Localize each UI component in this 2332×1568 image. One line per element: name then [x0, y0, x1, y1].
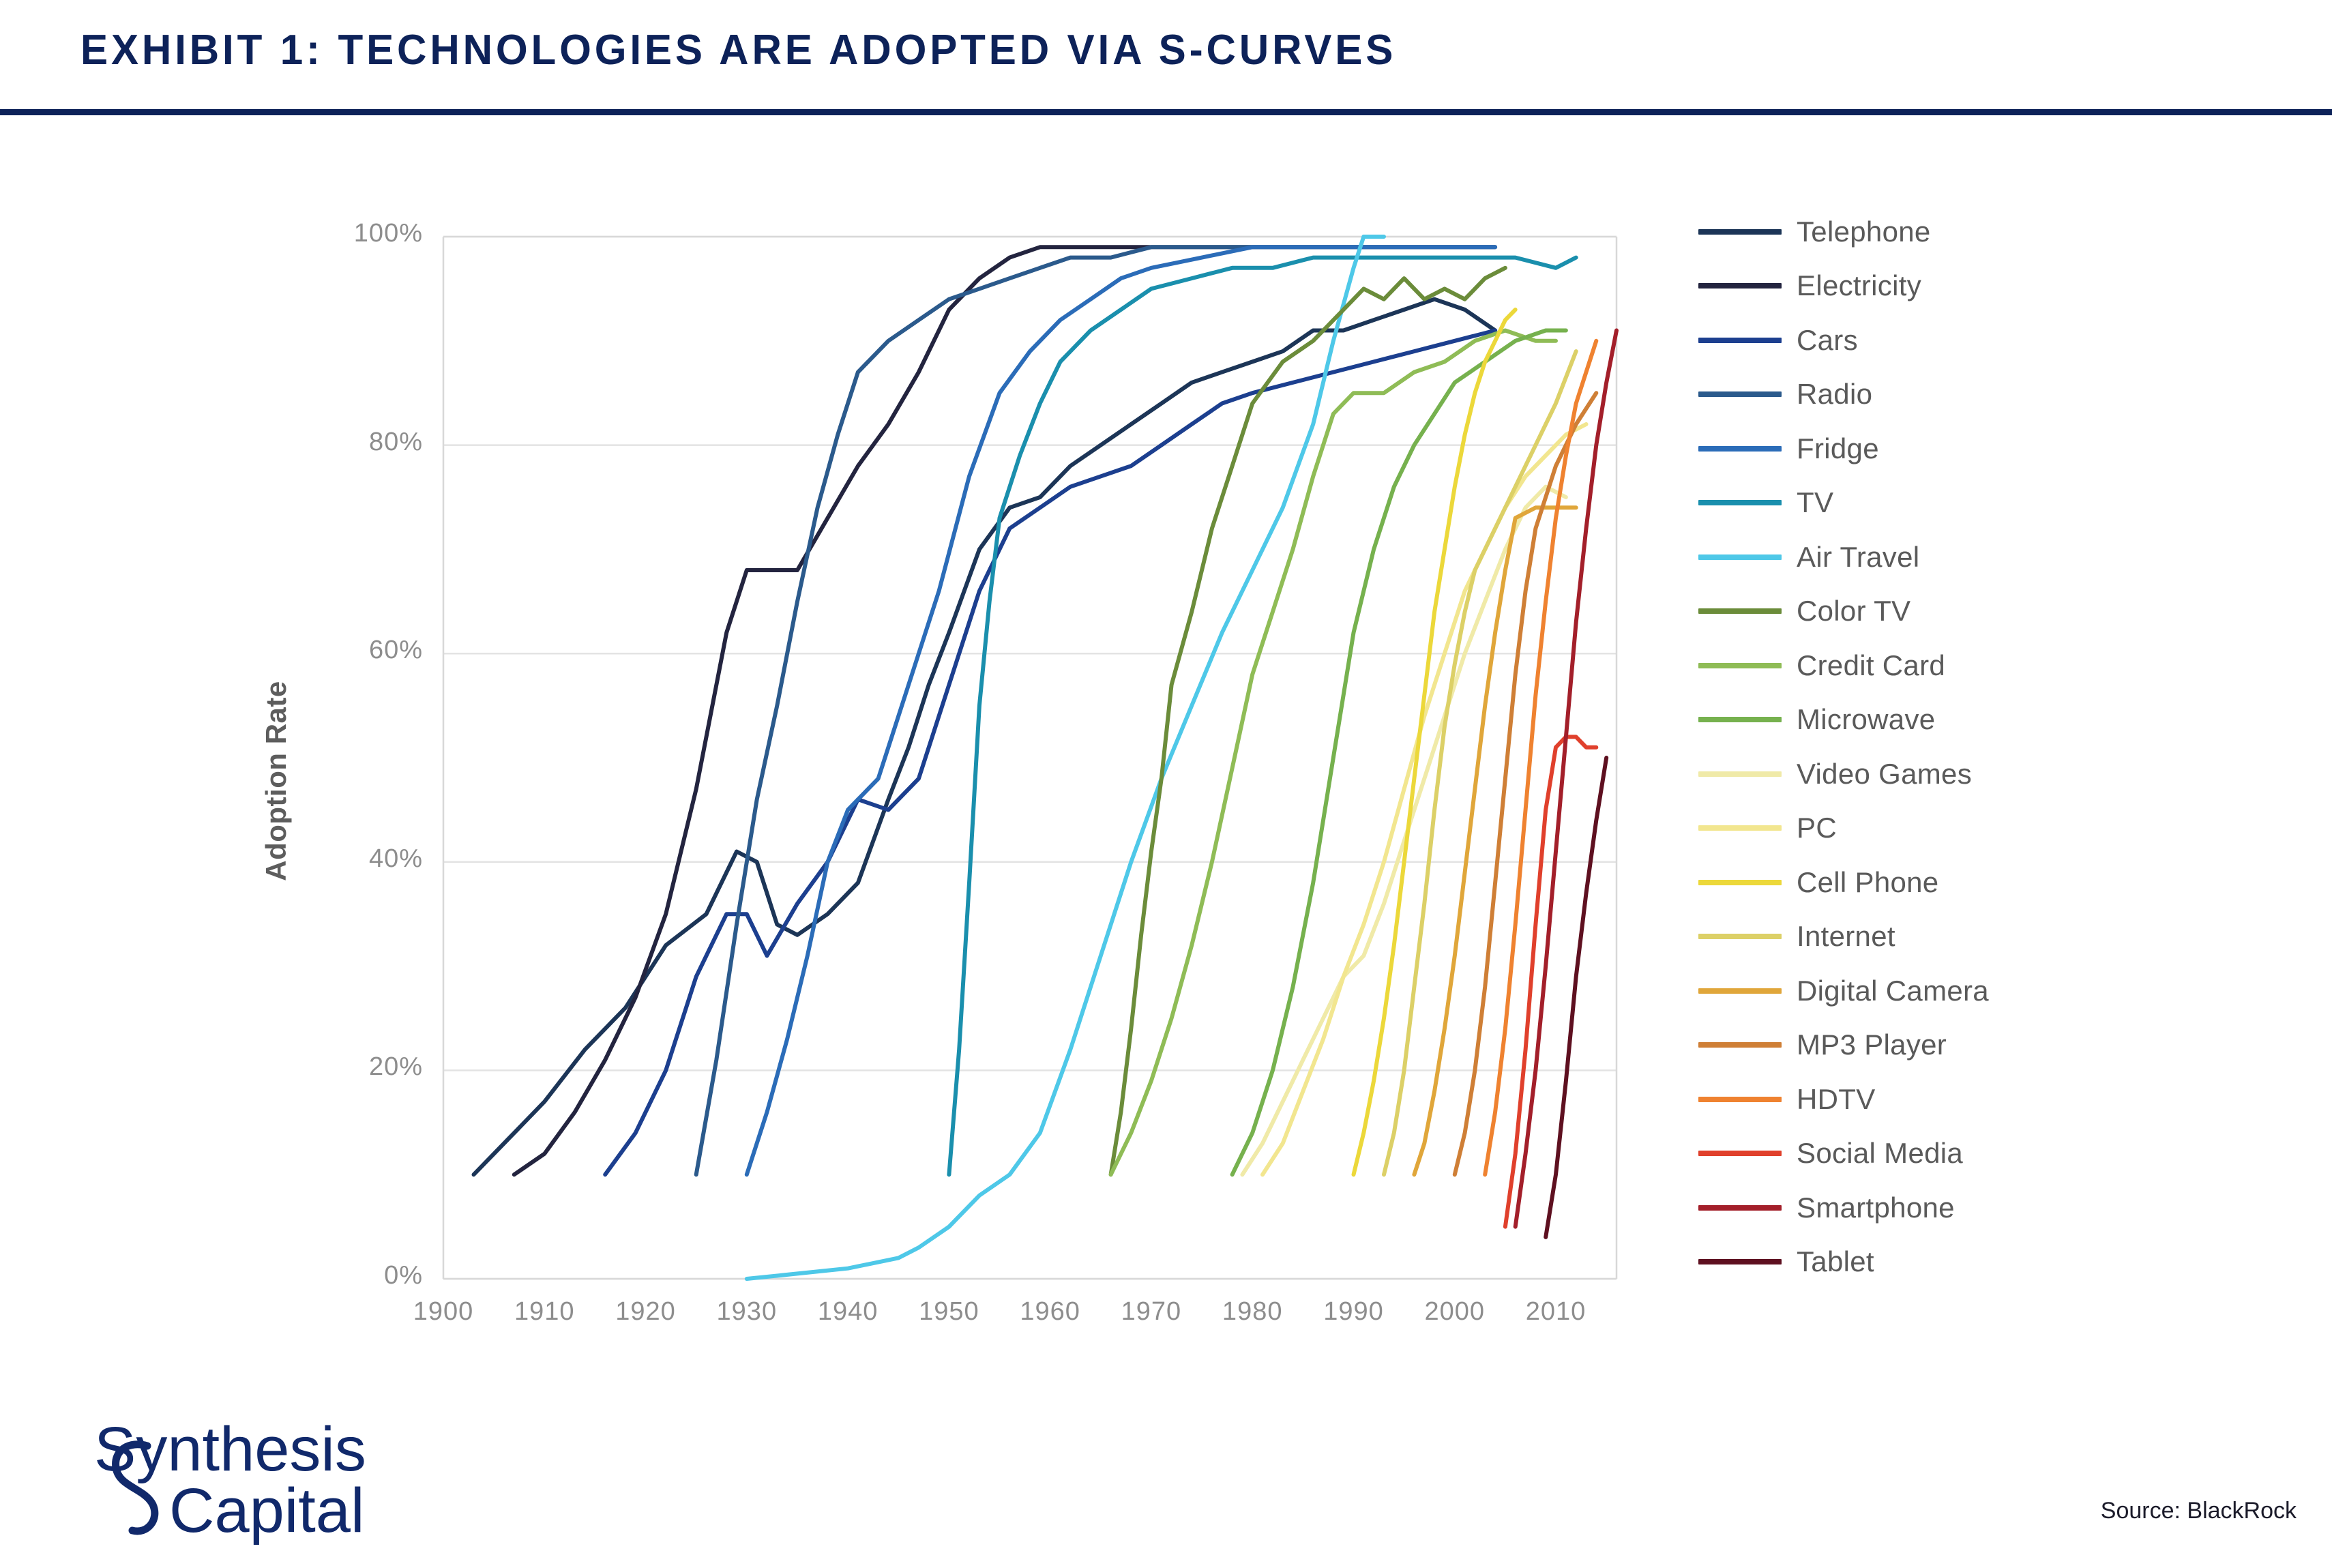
legend-item-air-travel[interactable]: Air Travel [1698, 530, 2264, 585]
legend-label-electricity: Electricity [1797, 269, 1921, 302]
legend-swatch-telephone [1698, 229, 1782, 235]
legend-item-electricity[interactable]: Electricity [1698, 259, 2264, 314]
legend-item-hdtv[interactable]: HDTV [1698, 1072, 2264, 1127]
y-tick-label: 40% [341, 844, 423, 874]
legend-label-social-media: Social Media [1797, 1137, 1963, 1170]
legend-item-smartphone[interactable]: Smartphone [1698, 1181, 2264, 1235]
legend-label-microwave: Microwave [1797, 703, 1935, 736]
legend-label-cell-phone: Cell Phone [1797, 866, 1938, 899]
legend-label-radio: Radio [1797, 378, 1872, 411]
legend-label-air-travel: Air Travel [1797, 541, 1919, 574]
legend-label-internet: Internet [1797, 920, 1895, 953]
legend-swatch-tablet [1698, 1259, 1782, 1264]
legend-swatch-color-tv [1698, 608, 1782, 614]
legend-label-telephone: Telephone [1797, 216, 1931, 248]
legend-label-pc: PC [1797, 812, 1837, 844]
x-tick-label: 1950 [919, 1297, 979, 1327]
legend-label-video-games: Video Games [1797, 758, 1972, 790]
x-tick-label: 1970 [1121, 1297, 1182, 1327]
legend-swatch-microwave [1698, 717, 1782, 722]
slide-root: EXHIBIT 1: TECHNOLOGIES ARE ADOPTED VIA … [0, 0, 2332, 1568]
title-divider [0, 109, 2332, 115]
legend-item-tv[interactable]: TV [1698, 476, 2264, 531]
legend-item-tablet[interactable]: Tablet [1698, 1235, 2264, 1290]
synthesis-capital-logo: Synthesis Capital [94, 1405, 415, 1548]
legend-item-internet[interactable]: Internet [1698, 910, 2264, 964]
chart-container: Adoption Rate 0%20%40%60%80%100% 1900191… [0, 157, 1678, 1330]
legend-swatch-radio [1698, 391, 1782, 397]
x-tick-label: 1980 [1222, 1297, 1283, 1327]
legend-swatch-mp3-player [1698, 1042, 1782, 1048]
legend-swatch-tv [1698, 500, 1782, 505]
logo-text-line2: Capital [169, 1476, 364, 1545]
x-axis-ticks: 1900191019201930194019501960197019801990… [0, 1297, 1678, 1345]
legend-item-credit-card[interactable]: Credit Card [1698, 638, 2264, 693]
y-tick-label: 60% [341, 636, 423, 665]
x-tick-label: 2000 [1424, 1297, 1485, 1327]
legend-label-color-tv: Color TV [1797, 595, 1910, 627]
series-lines [474, 237, 1617, 1279]
legend-swatch-social-media [1698, 1151, 1782, 1156]
legend-item-cell-phone[interactable]: Cell Phone [1698, 855, 2264, 910]
x-tick-label: 1940 [818, 1297, 879, 1327]
x-tick-label: 1920 [615, 1297, 676, 1327]
legend-item-digital-camera[interactable]: Digital Camera [1698, 964, 2264, 1018]
series-line-air-travel [747, 237, 1384, 1279]
series-line-microwave [1233, 331, 1566, 1175]
legend-label-cars: Cars [1797, 324, 1858, 357]
legend-swatch-hdtv [1698, 1097, 1782, 1102]
legend-label-tablet: Tablet [1797, 1245, 1874, 1278]
y-tick-label: 80% [341, 428, 423, 457]
legend-swatch-credit-card [1698, 663, 1782, 668]
chart-legend: TelephoneElectricityCarsRadioFridgeTVAir… [1698, 205, 2264, 1289]
series-line-social-media [1505, 737, 1596, 1226]
legend-label-credit-card: Credit Card [1797, 649, 1945, 682]
line-chart-svg [0, 157, 1678, 1330]
legend-item-cars[interactable]: Cars [1698, 313, 2264, 368]
legend-swatch-digital-camera [1698, 988, 1782, 994]
legend-swatch-pc [1698, 825, 1782, 831]
legend-label-fridge: Fridge [1797, 432, 1879, 465]
legend-swatch-fridge [1698, 446, 1782, 452]
legend-label-hdtv: HDTV [1797, 1083, 1876, 1116]
legend-label-mp3-player: MP3 Player [1797, 1029, 1947, 1061]
legend-swatch-video-games [1698, 771, 1782, 777]
legend-item-fridge[interactable]: Fridge [1698, 421, 2264, 476]
legend-item-mp3-player[interactable]: MP3 Player [1698, 1018, 2264, 1073]
x-tick-label: 1930 [717, 1297, 778, 1327]
legend-item-social-media[interactable]: Social Media [1698, 1127, 2264, 1181]
legend-item-video-games[interactable]: Video Games [1698, 747, 2264, 801]
logo-svg: Synthesis Capital [94, 1405, 415, 1548]
page-title: EXHIBIT 1: TECHNOLOGIES ARE ADOPTED VIA … [80, 26, 1396, 74]
logo-text-line1: Synthesis [94, 1415, 366, 1484]
series-line-digital-camera [1414, 507, 1576, 1174]
y-tick-label: 20% [341, 1052, 423, 1082]
x-tick-label: 2010 [1526, 1297, 1586, 1327]
series-line-hdtv [1485, 341, 1596, 1174]
x-tick-label: 1900 [413, 1297, 474, 1327]
legend-label-digital-camera: Digital Camera [1797, 975, 1989, 1007]
legend-swatch-cell-phone [1698, 880, 1782, 885]
legend-swatch-electricity [1698, 283, 1782, 289]
y-axis-ticks: 0%20%40%60%80%100% [321, 157, 423, 1330]
y-tick-label: 100% [341, 219, 423, 248]
legend-label-smartphone: Smartphone [1797, 1192, 1955, 1224]
source-note: Source: BlackRock [2101, 1498, 2297, 1524]
series-line-tablet [1546, 758, 1606, 1237]
legend-item-color-tv[interactable]: Color TV [1698, 585, 2264, 639]
x-tick-label: 1960 [1020, 1297, 1080, 1327]
series-line-cars [605, 331, 1495, 1175]
y-tick-label: 0% [341, 1261, 423, 1290]
legend-item-radio[interactable]: Radio [1698, 368, 2264, 422]
legend-swatch-smartphone [1698, 1205, 1782, 1211]
legend-item-pc[interactable]: PC [1698, 801, 2264, 856]
legend-swatch-air-travel [1698, 554, 1782, 560]
y-axis-title: Adoption Rate [260, 681, 293, 881]
x-tick-label: 1910 [514, 1297, 575, 1327]
legend-swatch-internet [1698, 934, 1782, 939]
series-line-radio [696, 247, 1495, 1174]
x-tick-label: 1990 [1323, 1297, 1384, 1327]
legend-swatch-cars [1698, 338, 1782, 343]
legend-item-microwave[interactable]: Microwave [1698, 693, 2264, 748]
legend-item-telephone[interactable]: Telephone [1698, 205, 2264, 259]
legend-label-tv: TV [1797, 486, 1833, 519]
